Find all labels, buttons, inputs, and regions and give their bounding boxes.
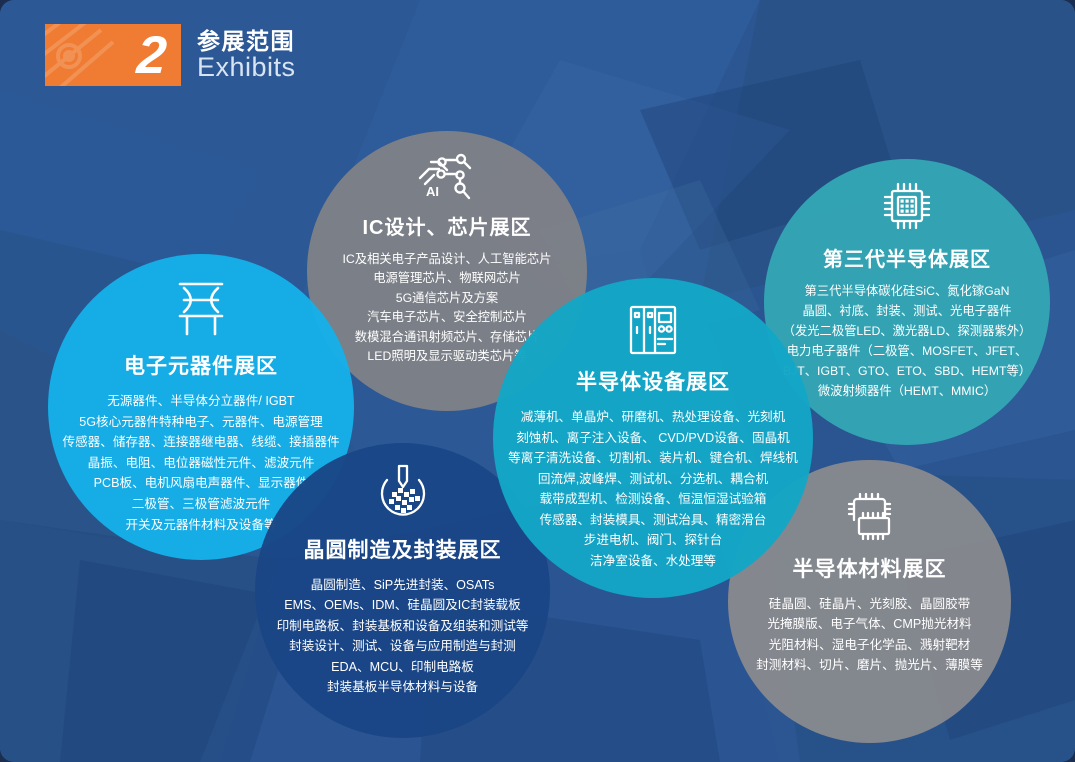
zone-line: PCB板、电机风扇电声器件、显示器件 <box>94 473 309 494</box>
zone-title: 第三代半导体展区 <box>823 243 991 272</box>
inductor-coil-icon <box>171 278 231 340</box>
zone-line: 晶圆制造、SiP先进封装、OSATs <box>311 575 495 595</box>
exhibits-poster: 2 参展范围 Exhibits <box>0 0 1075 762</box>
page-title-cn: 参展范围 <box>197 29 296 53</box>
zone-line: 载带成型机、检测设备、恒温恒湿试验箱 <box>540 489 767 510</box>
zone-line: 二极管、三极管滤波元件 <box>132 494 271 515</box>
page-title-en: Exhibits <box>197 53 296 82</box>
zone-lines: 减薄机、单晶炉、研磨机、热处理设备、光刻机 刻蚀机、离子注入设备、 CVD/PV… <box>508 407 798 571</box>
zone-title: 晶圆制造及封装展区 <box>304 534 502 564</box>
zone-line: 光阻材料、湿电子化学品、溅射靶材 <box>769 635 971 655</box>
zone-line: 电力电子器件（二极管、MOSFET、JFET、 <box>787 341 1027 361</box>
zone-line: 封测材料、切片、磨片、抛光片、薄膜等 <box>756 655 983 675</box>
zone-line: 光掩膜版、电子气体、CMP抛光材料 <box>767 614 971 634</box>
zone-line: 电源管理芯片、物联网芯片 <box>373 269 521 288</box>
cpu-chip-icon <box>878 177 936 235</box>
equipment-cabinet-icon <box>624 302 682 358</box>
zone-line: 开关及元器件材料及设备等 <box>125 515 276 536</box>
zone-title: 半导体设备展区 <box>576 366 730 396</box>
zone-line: 第三代半导体碳化硅SiC、氮化镓GaN <box>805 281 1010 301</box>
ic-package-icon <box>840 490 900 544</box>
zone-line: 印制电路板、封装基板和设备及组装和测试等 <box>277 616 529 636</box>
zone-line: 步进电机、阀门、探针台 <box>584 530 723 551</box>
zone-line: 回流焊,波峰焊、测试机、分选机、耦合机 <box>538 469 768 490</box>
zone-line: 等离子清洗设备、切割机、装片机、键合机、焊线机 <box>508 448 798 469</box>
header: 2 参展范围 Exhibits <box>45 24 296 86</box>
zone-line: 微波射频器件（HEMT、MMIC） <box>818 381 996 401</box>
zone-line: 5G通信芯片及方案 <box>396 289 498 308</box>
section-number-badge: 2 <box>45 24 181 86</box>
zone-line: LED照明及显示驱动类芯片等 <box>367 347 526 366</box>
wafer-probe-icon <box>373 462 433 524</box>
ai-circuit-icon: AI <box>417 150 477 204</box>
zone-line: 减薄机、单晶炉、研磨机、热处理设备、光刻机 <box>521 407 785 428</box>
header-text: 参展范围 Exhibits <box>197 29 296 82</box>
zone-line: 晶圆、衬底、封装、测试、光电子器件 <box>802 301 1011 321</box>
zone-lines: 第三代半导体碳化硅SiC、氮化镓GaN 晶圆、衬底、封装、测试、光电子器件 （发… <box>783 281 1032 401</box>
zone-line: 封装设计、测试、设备与应用制造与封测 <box>289 636 516 656</box>
badge-number: 2 <box>135 29 181 82</box>
zone-line: 数模混合通讯射频芯片、存储芯片 <box>355 328 539 347</box>
zone-lines: 晶圆制造、SiP先进封装、OSATs EMS、OEMs、IDM、硅晶圆及IC封装… <box>277 575 529 697</box>
zone-line: EDA、MCU、印制电路板 <box>331 657 474 677</box>
zone-title: 半导体材料展区 <box>793 553 947 583</box>
zone-line: EMS、OEMs、IDM、硅晶圆及IC封装载板 <box>284 595 520 615</box>
zone-line: 无源器件、半导体分立器件/ IGBT <box>107 391 295 412</box>
zone-line: BJT、IGBT、GTO、ETO、SBD、HEMT等） <box>783 361 1031 381</box>
zone-bubble-equipment[interactable]: 半导体设备展区 减薄机、单晶炉、研磨机、热处理设备、光刻机 刻蚀机、离子注入设备… <box>493 278 813 598</box>
svg-text:AI: AI <box>426 184 439 199</box>
zone-line: 晶振、电阻、电位器磁性元件、滤波元件 <box>88 453 315 474</box>
zone-lines: 硅晶圆、硅晶片、光刻胶、晶圆胶带 光掩膜版、电子气体、CMP抛光材料 光阻材料、… <box>756 594 983 676</box>
zone-line: 刻蚀机、离子注入设备、 CVD/PVD设备、固晶机 <box>516 428 790 449</box>
zone-line: 硅晶圆、硅晶片、光刻胶、晶圆胶带 <box>769 594 971 614</box>
zone-line: 汽车电子芯片、安全控制芯片 <box>367 308 527 327</box>
zone-line: 封装基板半导体材料与设备 <box>327 677 478 697</box>
badge-watermark-icon <box>45 24 149 86</box>
zone-line: 传感器、封装模具、测试治具、精密滑台 <box>540 510 767 531</box>
zone-line: IC及相关电子产品设计、人工智能芯片 <box>342 250 551 269</box>
zone-line: （发光二极管LED、激光器LD、探测器紫外） <box>783 321 1032 341</box>
zone-line: 洁净室设备、水处理等 <box>590 551 716 572</box>
zone-title: 电子元器件展区 <box>124 350 278 380</box>
zone-title: IC设计、芯片展区 <box>363 211 532 240</box>
zone-line: 传感器、储存器、连接器继电器、线缆、接插器件 <box>62 432 339 453</box>
zone-line: 5G核心元器件特种电子、元器件、电源管理 <box>79 412 323 433</box>
